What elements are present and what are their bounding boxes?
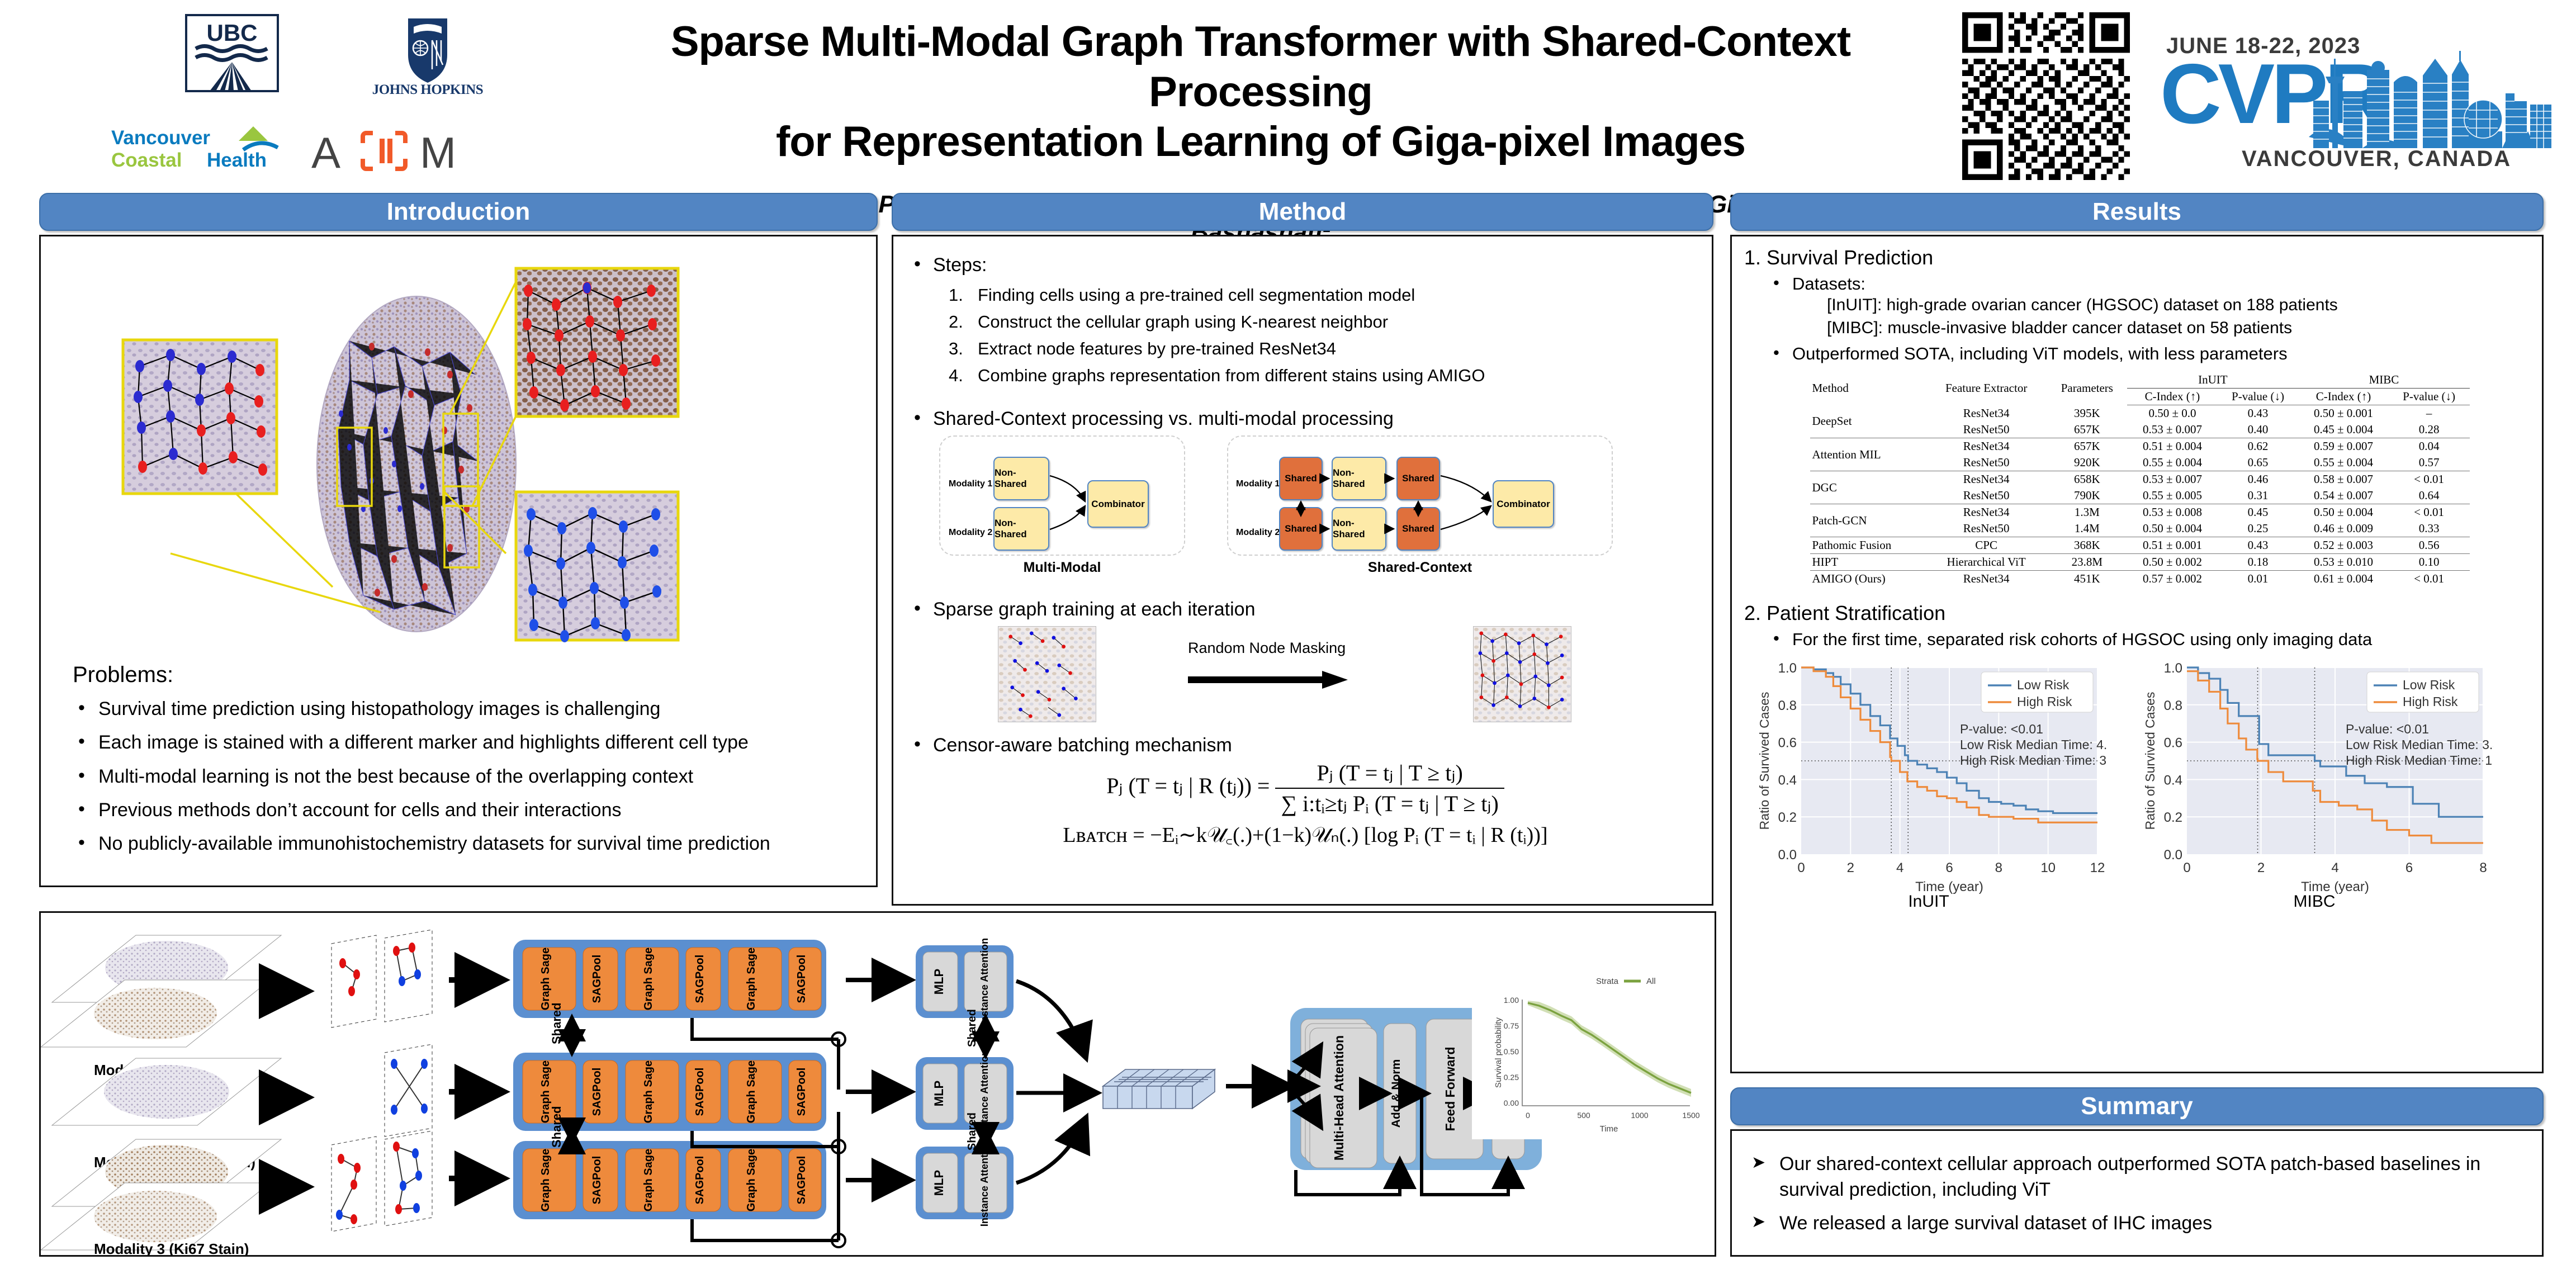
vancouver-coastal-health-logo: Vancouver Coastal Health	[109, 123, 299, 176]
cell-mibc-cindex: 0.58 ± 0.007	[2298, 471, 2388, 488]
section-header-summary: Summary	[1730, 1087, 2544, 1125]
summary-point: We released a large survival dataset of …	[1747, 1211, 2530, 1237]
graph-sage-label: Graph Sage	[745, 1149, 757, 1211]
cell-method: DGC	[1810, 471, 1926, 504]
architecture-km-plot: Strata All 1.000.750.500.250.00 05001000…	[1472, 972, 1712, 1139]
svg-text:1.0: 1.0	[1778, 661, 1797, 676]
step-text: Combine graphs representation from diffe…	[978, 366, 1485, 385]
sagpool-label: SAGPool	[694, 1156, 706, 1205]
cell-parameters: 657K	[2047, 438, 2127, 455]
poster-title-line-2: for Representation Learning of Giga-pixe…	[632, 117, 1890, 167]
cell-inuit-pvalue: 0.40	[2218, 422, 2299, 438]
cell-inuit-pvalue: 0.62	[2218, 438, 2299, 455]
th-inuit-pvalue: P-value (↓)	[2218, 389, 2299, 405]
sparse-training-bullet: Sparse graph training at each iteration	[908, 599, 1702, 621]
sagpool-label: SAGPool	[694, 1068, 706, 1116]
step-text: Extract node features by pre-trained Res…	[978, 339, 1336, 358]
svg-text:6: 6	[1945, 860, 1953, 875]
step-item: 1.Finding cells using a pre-trained cell…	[949, 282, 1702, 309]
cell-mibc-cindex: 0.45 ± 0.004	[2298, 422, 2388, 438]
km-caption-inuit: InUIT	[1750, 892, 2108, 911]
step-item: 2.Construct the cellular graph using K-n…	[949, 309, 1702, 335]
svg-text:10: 10	[2040, 860, 2056, 875]
th-group-mibc: MIBC	[2298, 372, 2469, 389]
equation-1-numerator: Pⱼ (T = tⱼ | T ≥ tⱼ)	[1275, 760, 1504, 788]
token-embeddings	[1103, 1069, 1215, 1109]
graph-plane-1	[332, 930, 432, 1027]
cell-mibc-cindex: 0.53 ± 0.010	[2298, 554, 2388, 571]
vancouver-skyline-icon	[2309, 48, 2555, 148]
sagpool-label: SAGPool	[795, 1156, 808, 1205]
cell-extractor: ResNet34	[1926, 504, 2047, 521]
th-mibc-pvalue: P-value (↓)	[2389, 389, 2470, 405]
cvpr-logo: JUNE 18-22, 2023 CVPR VANCOUVER, CANADA	[2152, 17, 2560, 184]
svg-text:0.8: 0.8	[1778, 698, 1797, 713]
aim-logo: A M	[310, 124, 484, 177]
svg-text:8: 8	[2479, 860, 2487, 875]
sc-modality2-label: Modality 2	[1236, 528, 1280, 538]
svg-text:4: 4	[2331, 860, 2338, 875]
cell-mibc-cindex: 0.59 ± 0.007	[2298, 438, 2388, 455]
svg-text:P-value: <0.01: P-value: <0.01	[1960, 722, 2043, 736]
svg-text:0.00: 0.00	[1504, 1098, 1519, 1107]
cell-method: AMIGO (Ours)	[1810, 571, 1926, 588]
svg-text:4: 4	[1896, 860, 1903, 875]
svg-text:0.2: 0.2	[2164, 810, 2182, 825]
feed-forward-label: Feed Forward	[1443, 1047, 1457, 1131]
section-header-introduction: Introduction	[39, 193, 878, 231]
title-block: Sparse Multi-Modal Graph Transformer wit…	[632, 17, 1890, 272]
cell-parameters: 657K	[2047, 422, 2127, 438]
cell-mibc-pvalue: < 0.01	[2389, 504, 2470, 521]
ubc-logo: UBC	[184, 14, 280, 92]
mlp-label: MLP	[932, 1081, 946, 1106]
cell-parameters: 658K	[2047, 471, 2127, 488]
sc-shared-2: Shared	[1396, 457, 1440, 500]
cell-extractor: ResNet34	[1926, 571, 2047, 588]
graph-sage-label: Graph Sage	[642, 1149, 655, 1211]
results-table-body: DeepSetResNet34395K0.50 ± 0.00.430.50 ± …	[1810, 405, 2470, 588]
sagpool-label: SAGPool	[591, 955, 603, 1003]
architecture-panel: Modality 1 (CD8 Stain) Modality 2 (CD20 …	[39, 911, 1716, 1257]
svg-text:Ratio of Survived Cases: Ratio of Survived Cases	[2143, 692, 2157, 830]
svg-text:2: 2	[1847, 860, 1854, 875]
table-row: HIPTHierarchical ViT23.8M0.50 ± 0.0020.1…	[1810, 554, 2470, 571]
cell-parameters: 790K	[2047, 487, 2127, 504]
problems-label: Problems:	[73, 662, 866, 688]
section-header-method: Method	[892, 193, 1713, 231]
graph-sage-label: Graph Sage	[745, 1060, 757, 1123]
cell-mibc-pvalue: 0.57	[2389, 454, 2470, 471]
mm-combinator: Combinator	[1087, 480, 1149, 528]
vch-line2b: Health	[207, 149, 267, 171]
equation-1: Pⱼ (T = tⱼ | R (tⱼ)) = Pⱼ (T = tⱼ | T ≥ …	[908, 760, 1702, 817]
modality-1-slides: Modality 1 (CD8 Stain)	[41, 935, 281, 1078]
svg-text:6: 6	[2405, 860, 2413, 875]
step-item: 3.Extract node features by pre-trained R…	[949, 335, 1702, 362]
graph-sage-label: Graph Sage	[539, 948, 552, 1010]
cell-mibc-cindex: 0.52 ± 0.003	[2298, 537, 2388, 554]
cell-method: DeepSet	[1810, 405, 1926, 438]
svg-text:High Risk Median Time: 3.65: High Risk Median Time: 3.65	[1960, 753, 2108, 768]
svg-text:0: 0	[1797, 860, 1805, 875]
svg-text:Low Risk Median Time: 4.33: Low Risk Median Time: 4.33	[1960, 737, 2108, 752]
cell-inuit-cindex: 0.50 ± 0.0	[2127, 405, 2217, 422]
cell-inuit-cindex: 0.55 ± 0.004	[2127, 454, 2217, 471]
cell-inuit-cindex: 0.51 ± 0.001	[2127, 537, 2217, 554]
cell-extractor: ResNet34	[1926, 471, 2047, 488]
censor-aware-bullet: Censor-aware batching mechanism	[908, 735, 1702, 756]
random-node-masking-label: Random Node Masking	[1188, 640, 1346, 657]
table-row: AMIGO (Ours)ResNet34451K0.57 ± 0.0020.01…	[1810, 571, 2470, 588]
problem-item: Previous methods don’t account for cells…	[73, 797, 866, 823]
step-text: Construct the cellular graph using K-nea…	[978, 312, 1388, 332]
cell-inuit-cindex: 0.53 ± 0.008	[2127, 504, 2217, 521]
th-mibc-cindex: C-Index (↑)	[2298, 389, 2388, 405]
arch-plot-xlabel: Time	[1600, 1124, 1618, 1134]
graph-masked-image	[998, 626, 1096, 722]
cell-mibc-pvalue: 0.56	[2389, 537, 2470, 554]
problem-item: Each image is stained with a different m…	[73, 729, 866, 756]
svg-text:1.0: 1.0	[2164, 661, 2182, 676]
cell-parameters: 920K	[2047, 454, 2127, 471]
node-masking-figure: Random Node Masking	[908, 624, 1691, 730]
cell-inuit-pvalue: 0.65	[2218, 454, 2299, 471]
cell-mibc-pvalue: 0.64	[2389, 487, 2470, 504]
cell-mibc-pvalue: –	[2389, 405, 2470, 422]
steps-label: Steps:	[908, 254, 1702, 276]
mlp-label: MLP	[932, 969, 946, 995]
instance-attention-label: Instance Attention	[979, 1139, 990, 1227]
th-inuit-cindex: C-Index (↑)	[2127, 389, 2217, 405]
svg-text:0.0: 0.0	[1778, 847, 1797, 863]
mlp-label: MLP	[932, 1170, 946, 1196]
svg-text:0.6: 0.6	[1778, 736, 1797, 751]
results-content: 1. Survival Prediction Datasets: [InUIT]…	[1744, 246, 2535, 920]
cell-inuit-pvalue: 0.43	[2218, 405, 2299, 422]
svg-text:1.00: 1.00	[1504, 996, 1519, 1005]
cell-mibc-cindex: 0.46 ± 0.009	[2298, 520, 2388, 537]
cell-extractor: CPC	[1926, 537, 2047, 554]
sc-shared-4: Shared	[1396, 507, 1440, 551]
svg-text:0: 0	[2183, 860, 2190, 875]
svg-text:0.4: 0.4	[1778, 773, 1797, 788]
equation-1-denominator: ∑ i:tᵢ≥tⱼ Pᵢ (T = tⱼ | T ≥ tⱼ)	[1275, 788, 1504, 817]
sc-shared-3: Shared	[1279, 507, 1323, 551]
shared-label: Shared	[550, 1002, 563, 1044]
summary-content: Our shared-context cellular approach out…	[1747, 1152, 2530, 1244]
cell-mibc-pvalue: 0.04	[2389, 438, 2470, 455]
sc-combinator: Combinator	[1493, 480, 1554, 528]
svg-text:Low Risk Median Time: 3.45: Low Risk Median Time: 3.45	[2346, 737, 2493, 752]
svg-text:High Risk Median Time: 1.91: High Risk Median Time: 1.91	[2346, 753, 2493, 768]
dataset-inuit: [InUIT]: high-grade ovarian cancer (HGSO…	[1827, 294, 2535, 317]
table-header-row-1: Method Feature Extractor Parameters InUI…	[1810, 372, 2470, 389]
svg-text:Low Risk: Low Risk	[2017, 678, 2070, 692]
cell-extractor: Hierarchical ViT	[1926, 554, 2047, 571]
results-item-1-title: 1. Survival Prediction	[1744, 246, 2535, 269]
graph-sage-label: Graph Sage	[539, 1149, 552, 1211]
cell-method: HIPT	[1810, 554, 1926, 571]
cell-inuit-pvalue: 0.01	[2218, 571, 2299, 588]
cell-parameters: 23.8M	[2047, 554, 2127, 571]
section-header-results: Results	[1730, 193, 2544, 231]
cell-mibc-pvalue: 0.10	[2389, 554, 2470, 571]
svg-text:8: 8	[1995, 860, 2002, 875]
cell-mibc-pvalue: 0.28	[2389, 422, 2470, 438]
strata-label: Strata	[1596, 977, 1619, 986]
masking-arrow-icon	[1188, 670, 1350, 690]
gnn-block-3: Graph Sage SAGPool Graph Sage SAGPool Gr…	[513, 1141, 826, 1219]
cell-inuit-pvalue: 0.18	[2218, 554, 2299, 571]
cell-mibc-cindex: 0.50 ± 0.004	[2298, 504, 2388, 521]
cell-extractor: ResNet50	[1926, 520, 2047, 537]
cell-method: Patch-GCN	[1810, 504, 1926, 537]
svg-text:0.50: 0.50	[1504, 1047, 1519, 1056]
step-text: Finding cells using a pre-trained cell s…	[978, 285, 1415, 305]
cell-extractor: ResNet50	[1926, 487, 2047, 504]
equation-2: Lʙᴀᴛᴄʜ = −Eᵢ∼k𝒰꜀(.)+(1−k)𝒰ₙ(.) [log Pᵢ (…	[908, 822, 1702, 847]
km-plot-inuit: 0.00.20.40.60.81.0024681012Time (year)Ra…	[1750, 657, 2108, 898]
cell-inuit-cindex: 0.53 ± 0.007	[2127, 471, 2217, 488]
svg-text:0: 0	[1526, 1111, 1530, 1120]
table-row: DGCResNet34658K0.53 ± 0.0070.460.58 ± 0.…	[1810, 471, 2470, 488]
steps-list: 1.Finding cells using a pre-trained cell…	[949, 282, 1702, 389]
mm-nonshared-2: Non-Shared	[993, 507, 1049, 551]
introduction-text: Problems: Survival time prediction using…	[73, 662, 866, 864]
cell-mibc-pvalue: 0.33	[2389, 520, 2470, 537]
cell-inuit-pvalue: 0.43	[2218, 537, 2299, 554]
summary-list: Our shared-context cellular approach out…	[1747, 1152, 2530, 1237]
graph-plane-3	[332, 1131, 432, 1232]
shared-label: Shared	[550, 1106, 563, 1148]
sagpool-label: SAGPool	[795, 1068, 808, 1116]
cvpr-city: VANCOUVER, CANADA	[2242, 146, 2511, 172]
svg-text:UBC: UBC	[207, 20, 258, 46]
svg-text:0.0: 0.0	[2164, 847, 2182, 863]
th-method: Method	[1810, 372, 1926, 405]
inset-mixed-graph	[123, 340, 277, 494]
sagpool-label: SAGPool	[591, 1068, 603, 1116]
cell-inuit-cindex: 0.57 ± 0.002	[2127, 571, 2217, 588]
sc-nonshared-1: Non-Shared	[1332, 457, 1386, 500]
vch-line2a: Coastal	[111, 149, 182, 171]
problems-list: Survival time prediction using histopath…	[73, 695, 866, 857]
cell-mibc-cindex: 0.50 ± 0.001	[2298, 405, 2388, 422]
shared-label: Shared	[966, 1009, 978, 1047]
sharedcontext-caption: Shared-Context	[1227, 560, 1613, 576]
cell-extractor: ResNet34	[1926, 405, 2047, 422]
cell-inuit-pvalue: 0.45	[2218, 504, 2299, 521]
graph-sage-label: Graph Sage	[642, 1060, 655, 1123]
multi-head-attention-label: Multi-Head Attention	[1332, 1035, 1346, 1161]
table-row: Pathomic FusionCPC368K0.51 ± 0.0010.430.…	[1810, 537, 2470, 554]
svg-text:Low Risk: Low Risk	[2403, 678, 2455, 692]
instance-attention-label: Instance Attention	[979, 1050, 990, 1137]
graph-full-image	[1473, 626, 1571, 722]
equation-1-lhs: Pⱼ (T = tⱼ | R (tⱼ)) =	[1106, 773, 1270, 798]
problem-item: No publicly-available immunohistochemist…	[73, 830, 866, 857]
results-table: Method Feature Extractor Parameters InUI…	[1810, 372, 2470, 587]
cell-parameters: 1.4M	[2047, 520, 2127, 537]
summary-point: Our shared-context cellular approach out…	[1747, 1152, 2530, 1203]
table-row: DeepSetResNet34395K0.50 ± 0.00.430.50 ± …	[1810, 405, 2470, 422]
cell-mibc-cindex: 0.54 ± 0.007	[2298, 487, 2388, 504]
datasets-label: Datasets:	[1744, 274, 2535, 294]
km-caption-mibc: MIBC	[2135, 892, 2493, 911]
cell-inuit-pvalue: 0.31	[2218, 487, 2299, 504]
th-group-inuit: InUIT	[2127, 372, 2298, 389]
svg-text:500: 500	[1577, 1111, 1590, 1120]
qr-code[interactable]	[1962, 12, 2130, 180]
poster-title-line-1: Sparse Multi-Modal Graph Transformer wit…	[632, 17, 1890, 117]
svg-text:M: M	[420, 128, 456, 177]
graph-plane-2	[385, 1044, 432, 1137]
svg-text:0.25: 0.25	[1504, 1073, 1519, 1082]
cell-inuit-cindex: 0.50 ± 0.004	[2127, 520, 2217, 537]
step-item: 4.Combine graphs representation from dif…	[949, 362, 1702, 389]
modality-3-slides: Modality 3 (Ki67 Stain)	[41, 1139, 281, 1255]
cell-inuit-cindex: 0.53 ± 0.007	[2127, 422, 2217, 438]
inset-red-graph	[516, 268, 678, 416]
svg-text:Ratio of Survived Cases: Ratio of Survived Cases	[1757, 692, 1772, 830]
svg-text:0.6: 0.6	[2164, 736, 2182, 751]
sagpool-label: SAGPool	[694, 955, 706, 1003]
svg-text:0.2: 0.2	[1778, 810, 1797, 825]
mlp-attention-2: MLP Instance Attention	[916, 1050, 1014, 1137]
svg-text:0.8: 0.8	[2164, 698, 2182, 713]
svg-text:P-value: <0.01: P-value: <0.01	[2346, 722, 2429, 736]
instance-attention-label: Instance Attention	[979, 938, 990, 1025]
cell-parameters: 1.3M	[2047, 504, 2127, 521]
svg-text:1000: 1000	[1631, 1111, 1648, 1120]
cell-inuit-pvalue: 0.25	[2218, 520, 2299, 537]
shared-context-bullet: Shared-Context processing vs. multi-moda…	[908, 408, 1702, 430]
svg-text:0.75: 0.75	[1504, 1021, 1519, 1030]
svg-text:12: 12	[2090, 860, 2105, 875]
inset-blue-graph	[516, 492, 678, 642]
km-plot-mibc: 0.00.20.40.60.81.002468Time (year)Ratio …	[2135, 657, 2493, 898]
sc-nonshared-2: Non-Shared	[1332, 507, 1386, 551]
svg-text:0.4: 0.4	[2164, 773, 2182, 788]
svg-text:A: A	[311, 128, 340, 177]
table-row: Patch-GCNResNet341.3M0.53 ± 0.0080.450.5…	[1810, 504, 2470, 521]
cell-inuit-pvalue: 0.46	[2218, 471, 2299, 488]
cell-extractor: ResNet34	[1926, 438, 2047, 455]
cell-parameters: 368K	[2047, 537, 2127, 554]
cell-extractor: ResNet50	[1926, 454, 2047, 471]
graph-sage-label: Graph Sage	[642, 948, 655, 1010]
cell-mibc-cindex: 0.61 ± 0.004	[2298, 571, 2388, 588]
cell-method: Attention MIL	[1810, 438, 1926, 471]
jhu-wordmark: JOHNS HOPKINS	[372, 82, 483, 97]
cell-parameters: 451K	[2047, 571, 2127, 588]
mm-modality2-label: Modality 2	[949, 528, 992, 538]
mm-modality1-label: Modality 1	[949, 479, 992, 489]
stratification-bullet: For the first time, separated risk cohor…	[1744, 629, 2535, 650]
add-norm-label: Add & Norm	[1390, 1059, 1403, 1128]
mlp-attention-3: MLP Instance Attention	[916, 1139, 1014, 1227]
th-parameters: Parameters	[2047, 372, 2127, 405]
shared-context-diagram: Modality 1 Modality 2 Non-Shared Non-Sha…	[908, 435, 1691, 575]
cell-parameters: 395K	[2047, 405, 2127, 422]
cell-mibc-cindex: 0.55 ± 0.004	[2298, 454, 2388, 471]
sc-modality1-label: Modality 1	[1236, 479, 1280, 489]
th-feature-extractor: Feature Extractor	[1926, 372, 2047, 405]
sagpool-label: SAGPool	[795, 955, 808, 1003]
results-item-2-title: 2. Patient Stratification	[1744, 602, 2535, 625]
sc-shared-1: Shared	[1279, 457, 1323, 500]
arch-plot-ylabel: Survival probability	[1494, 1017, 1503, 1088]
poster-header: UBC JOHNS HOPKINS	[0, 0, 2576, 196]
dataset-mibc: [MIBC]: muscle-invasive bladder cancer d…	[1827, 317, 2535, 340]
introduction-figure	[59, 246, 858, 648]
cell-inuit-cindex: 0.55 ± 0.005	[2127, 487, 2217, 504]
km-plots: 0.00.20.40.60.81.0024681012Time (year)Ra…	[1750, 657, 2521, 920]
sota-bullet: Outperformed SOTA, including ViT models,…	[1744, 344, 2535, 364]
vch-line1: Vancouver	[111, 127, 210, 149]
cell-mibc-pvalue: < 0.01	[2389, 471, 2470, 488]
mm-nonshared-1: Non-Shared	[993, 457, 1049, 500]
svg-text:2: 2	[2257, 860, 2265, 875]
graph-sage-label: Graph Sage	[745, 948, 757, 1010]
cell-inuit-cindex: 0.50 ± 0.002	[2127, 554, 2217, 571]
method-content: Steps: 1.Finding cells using a pre-train…	[908, 254, 1702, 897]
strata-value: All	[1646, 977, 1656, 986]
modality-3-label: Modality 3 (Ki67 Stain)	[94, 1240, 249, 1255]
cell-mibc-pvalue: < 0.01	[2389, 571, 2470, 588]
cell-inuit-cindex: 0.51 ± 0.004	[2127, 438, 2217, 455]
shared-label: Shared	[966, 1112, 978, 1150]
svg-text:1500: 1500	[1682, 1111, 1699, 1120]
problem-item: Survival time prediction using histopath…	[73, 695, 866, 722]
mlp-attention-1: MLP Instance Attention	[916, 938, 1014, 1025]
svg-text:High Risk: High Risk	[2017, 694, 2072, 709]
svg-text:High Risk: High Risk	[2403, 694, 2458, 709]
problem-item: Multi-modal learning is not the best bec…	[73, 763, 866, 790]
multimodal-caption: Multi-Modal	[939, 560, 1185, 576]
sagpool-label: SAGPool	[591, 1156, 603, 1205]
table-row: Attention MILResNet34657K0.51 ± 0.0040.6…	[1810, 438, 2470, 455]
cell-method: Pathomic Fusion	[1810, 537, 1926, 554]
johns-hopkins-logo: JOHNS HOPKINS	[358, 16, 498, 100]
cell-extractor: ResNet50	[1926, 422, 2047, 438]
architecture-diagram: Modality 1 (CD8 Stain) Modality 2 (CD20 …	[41, 913, 1715, 1255]
